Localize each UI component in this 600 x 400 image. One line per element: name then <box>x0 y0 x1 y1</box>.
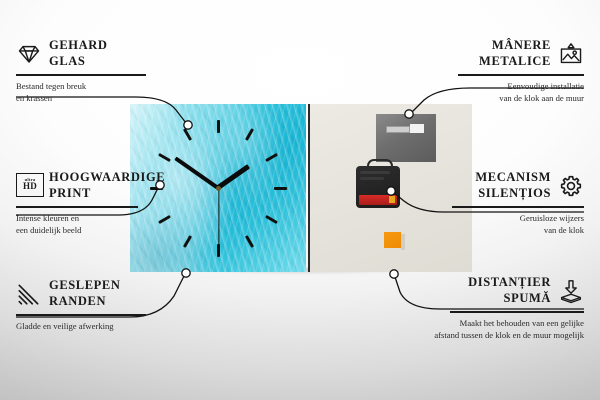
battery <box>359 195 397 205</box>
callout-title: MÂNEREMETALICE <box>434 38 551 69</box>
picture-frame-icon <box>558 41 584 67</box>
callout-head: GESLEPENRANDEN <box>16 278 186 309</box>
callout-title: GEHARDGLAS <box>49 38 107 69</box>
metal-hanger-plate <box>376 114 436 162</box>
clock-mechanism-box <box>356 166 400 208</box>
callout-rule <box>16 74 146 75</box>
callout-distantier-spuma: DISTANȚIERSPUMĂ Maakt het behouden van e… <box>430 275 584 341</box>
callout-title: GESLEPENRANDEN <box>49 278 121 309</box>
callout-rule <box>450 311 584 312</box>
callout-title: MECANISMSILENȚIOS <box>444 170 551 201</box>
clock-tick <box>274 187 287 190</box>
callout-head: MECANISMSILENȚIOS <box>444 170 584 201</box>
mechanism-hook <box>367 159 393 171</box>
gear-icon <box>558 173 584 199</box>
callout-head: MÂNEREMETALICE <box>434 38 584 69</box>
callout-subtitle: Maakt het behouden van een gelijkeafstan… <box>392 317 584 341</box>
bevelled-edges-icon <box>16 281 42 307</box>
spacer-arrow-icon <box>558 278 584 304</box>
ultra-hd-icon: ultra HD <box>16 173 42 199</box>
mechanism-ridge <box>360 171 390 174</box>
callout-head: ultra HD HOOGWAARDIGEPRINT <box>16 170 186 201</box>
callout-title: HOOGWAARDIGEPRINT <box>49 170 165 201</box>
callout-rule <box>16 206 138 207</box>
callout-head: GEHARDGLAS <box>16 38 166 69</box>
hanger-slot <box>386 126 410 133</box>
callout-rule <box>452 206 584 207</box>
diamond-icon <box>16 41 42 67</box>
callout-title: DISTANȚIERSPUMĂ <box>430 275 551 306</box>
callout-subtitle: Gladde en veilige afwerking <box>16 320 186 332</box>
callout-subtitle: Bestand tegen breuken krassen <box>16 80 166 104</box>
callout-subtitle: Intense kleuren eneen duidelijk beeld <box>16 212 186 236</box>
callout-subtitle: Eenvoudige installatievan de klok aan de… <box>434 80 584 104</box>
infographic-canvas: GEHARDGLAS Bestand tegen breuken krassen… <box>0 0 600 400</box>
callout-manere-metalice: MÂNEREMETALICE Eenvoudige installatievan… <box>434 38 584 104</box>
hanger-slot-secondary <box>410 124 424 133</box>
hands-center-pin <box>216 186 221 191</box>
foam-spacer-edge <box>401 234 405 250</box>
callout-mecanism-silentios: MECANISMSILENȚIOS Geruisloze wijzersvan … <box>444 170 584 236</box>
callout-gehard-glas: GEHARDGLAS Bestand tegen breuken krassen <box>16 38 166 104</box>
battery-terminal <box>389 196 395 203</box>
ultra-hd-icon-main-text: HD <box>23 182 37 191</box>
callout-subtitle: Geruisloze wijzersvan de klok <box>444 212 584 236</box>
callout-hoogwaardige-print: ultra HD HOOGWAARDIGEPRINT Intense kleur… <box>16 170 186 236</box>
clock-tick <box>217 120 220 133</box>
callout-rule <box>16 314 146 315</box>
second-hand <box>218 188 219 248</box>
callout-head: DISTANȚIERSPUMĂ <box>430 275 584 306</box>
foam-spacer <box>384 232 401 248</box>
callout-geslepen-randen: GESLEPENRANDEN Gladde en veilige afwerki… <box>16 278 186 332</box>
callout-rule <box>458 74 584 75</box>
mechanism-ridge-secondary <box>360 177 384 180</box>
